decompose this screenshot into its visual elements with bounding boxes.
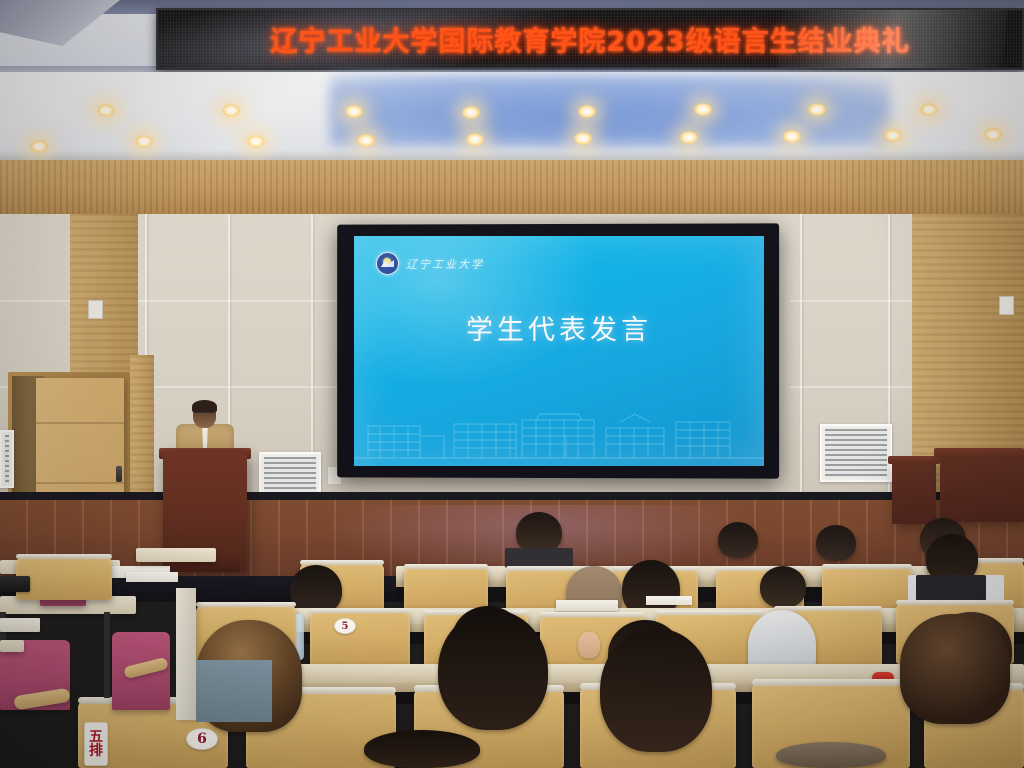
ceiling-downlight-icon [97,104,115,117]
hvac-grille-icon [820,424,892,482]
ceiling-downlight-icon [466,133,484,146]
slide-title: 学生代表发言 [354,308,764,347]
ceiling-downlight-icon [808,103,826,116]
lecture-chair-headrest [404,564,488,569]
hvac-grille-icon [0,430,14,488]
lecture-hall-photo: 辽宁工业大学国际教育学院2023级语言生结业典礼 [0,0,1024,768]
aisle-floor [196,660,272,722]
slide-branding: 辽宁工业大学 [376,252,484,275]
ceiling-downlight-icon [357,134,375,147]
audience-head [776,742,886,768]
audience-head [760,566,806,608]
stage-lectern-right [940,456,1024,522]
aisle-partition [176,588,196,720]
ceiling-downlight-icon [574,132,592,145]
row-label-line2: 排 [89,744,103,758]
university-seal-icon [376,252,399,275]
ceiling-downlight-icon [135,135,153,148]
audience-head [816,525,856,561]
ceiling-blue-wash [330,74,890,146]
light-switch-icon[interactable] [999,296,1014,315]
ceiling-downlight-icon [984,128,1002,141]
paper-sheet[interactable] [126,572,178,582]
audience-head [364,730,480,768]
ceiling-downlight-icon [783,130,801,143]
audience-head [718,522,758,558]
seat-number-label: 5 [334,618,356,634]
stage-lectern-right-top [934,448,1024,458]
row-number-label: 五 排 [84,722,108,766]
projector-screen[interactable]: 辽宁工业大学 学生代表发言 [354,236,764,466]
lecture-chair-headrest [16,554,112,559]
lecture-chair-headrest [752,679,910,686]
side-desk [136,548,216,562]
lecture-chair-headrest [656,610,762,615]
audience-shoulders [505,548,573,568]
led-banner: 辽宁工业大学国际教育学院2023级语言生结业典礼 [156,8,1024,70]
ceiling-downlight-icon [680,131,698,144]
row-label-line1: 五 [89,730,103,744]
audience-head [900,614,1010,724]
paper-sheet[interactable] [646,596,692,605]
ceiling-downlight-icon [345,105,363,118]
light-switch-icon[interactable] [88,300,103,319]
ceiling-downlight-icon [247,135,265,148]
desk-leg [104,612,110,698]
keyboard-device[interactable] [0,576,30,592]
ceiling-downlight-icon [578,105,596,118]
audience-hand [578,632,600,658]
open-notebook[interactable] [556,600,618,611]
audience-head [600,628,712,752]
ceiling-downlight-icon [884,129,902,142]
lecture-chair[interactable] [16,556,112,600]
lecture-chair-headrest [196,602,296,607]
ceiling-downlight-icon [462,106,480,119]
wall-seam [0,300,340,302]
audience-head [438,610,548,730]
lecture-chair-headrest [896,600,1014,605]
lecture-chair-headrest [540,612,644,617]
open-notebook[interactable] [0,618,40,632]
stage-side-table [892,462,936,524]
ceiling-downlight-icon [30,140,48,153]
ceiling-downlight-icon [920,103,938,116]
lecture-chair-headrest [822,564,912,569]
wall-wood-pillar [70,214,138,384]
campus-skyline-graphic [354,402,764,460]
wall-wood-band [0,160,1024,218]
side-desk [0,640,24,652]
wall-seam [800,214,802,514]
lecture-chair-headrest [310,608,410,613]
wall-wood-pillar [130,355,154,505]
glasses-icon [194,412,214,417]
audience-shoulders [916,575,986,601]
led-banner-glare [777,8,1008,70]
lecture-chair[interactable] [310,610,410,668]
seat-number-label: 6 [186,728,218,750]
slide-brand-name: 辽宁工业大学 [406,256,484,272]
ceiling-downlight-icon [222,104,240,117]
stage-side-table-top [888,456,940,464]
door-handle-icon[interactable] [116,466,122,482]
ceiling-downlight-icon [694,103,712,116]
